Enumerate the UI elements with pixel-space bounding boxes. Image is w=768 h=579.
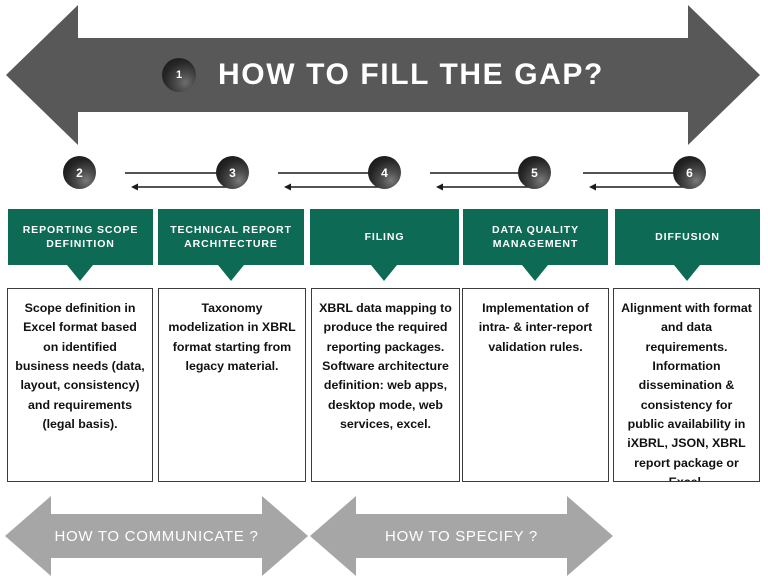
step-circle-6-label: 6 bbox=[686, 166, 693, 180]
header-card-data-quality-management[interactable]: DATA QUALITY MANAGEMENT bbox=[463, 209, 608, 265]
body-text-3: XBRL data mapping to produce the require… bbox=[319, 301, 452, 431]
header-card-label-2: TECHNICAL REPORT ARCHITECTURE bbox=[166, 223, 296, 252]
body-text-5: Alignment with format and data requireme… bbox=[621, 301, 752, 482]
header-card-label-1: REPORTING SCOPE DEFINITION bbox=[16, 223, 145, 252]
header-card-reporting-scope-definition[interactable]: REPORTING SCOPE DEFINITION bbox=[8, 209, 153, 265]
arrow-left-icon-4-3 bbox=[283, 182, 383, 200]
step-circle-6[interactable]: 6 bbox=[673, 156, 706, 189]
triangle-down-icon-5 bbox=[674, 265, 700, 281]
header-card-label-4: DATA QUALITY MANAGEMENT bbox=[471, 223, 600, 252]
body-box-reporting-scope-definition: Scope definition in Excel format based o… bbox=[7, 288, 153, 482]
header-card-technical-report-architecture[interactable]: TECHNICAL REPORT ARCHITECTURE bbox=[158, 209, 304, 265]
body-box-technical-report-architecture: Taxonomy modelization in XBRL format sta… bbox=[158, 288, 306, 482]
bottom-arrow-how-to-communicate[interactable]: HOW TO COMMUNICATE ? bbox=[5, 495, 308, 577]
banner-arrow: 1 HOW TO FILL THE GAP? bbox=[6, 4, 760, 146]
header-card-filing[interactable]: FILING bbox=[310, 209, 459, 265]
step-circle-4[interactable]: 4 bbox=[368, 156, 401, 189]
step-circle-2[interactable]: 2 bbox=[63, 156, 96, 189]
body-text-2: Taxonomy modelization in XBRL format sta… bbox=[168, 301, 295, 373]
body-text-1: Scope definition in Excel format based o… bbox=[15, 301, 144, 431]
step-circle-5-label: 5 bbox=[531, 166, 538, 180]
step-circle-4-label: 4 bbox=[381, 166, 388, 180]
double-headed-arrow-icon-communicate bbox=[5, 495, 308, 577]
body-text-4: Implementation of intra- & inter-report … bbox=[479, 301, 593, 354]
body-box-filing: XBRL data mapping to produce the require… bbox=[311, 288, 460, 482]
triangle-down-icon-2 bbox=[218, 265, 244, 281]
body-box-diffusion: Alignment with format and data requireme… bbox=[613, 288, 760, 482]
header-card-diffusion[interactable]: DIFFUSION bbox=[615, 209, 760, 265]
body-box-data-quality-management: Implementation of intra- & inter-report … bbox=[462, 288, 609, 482]
header-card-label-5: DIFFUSION bbox=[655, 230, 720, 244]
arrow-left-icon-6-5 bbox=[588, 182, 688, 200]
header-card-label-3: FILING bbox=[365, 230, 405, 244]
triangle-down-icon-3 bbox=[371, 265, 397, 281]
step-circle-5[interactable]: 5 bbox=[518, 156, 551, 189]
double-headed-arrow-icon-specify bbox=[310, 495, 613, 577]
step-circle-2-label: 2 bbox=[76, 166, 83, 180]
arrow-left-icon-3-2 bbox=[130, 182, 230, 200]
step-circle-3[interactable]: 3 bbox=[216, 156, 249, 189]
step-circle-3-label: 3 bbox=[229, 166, 236, 180]
steps-row: 2 3 4 5 6 bbox=[0, 148, 768, 200]
arrow-left-icon-5-4 bbox=[435, 182, 535, 200]
triangle-down-icon-4 bbox=[522, 265, 548, 281]
double-headed-arrow-icon bbox=[6, 4, 760, 146]
diagram-canvas: 1 HOW TO FILL THE GAP? bbox=[0, 0, 768, 579]
triangle-down-icon-1 bbox=[67, 265, 93, 281]
bottom-arrow-how-to-specify[interactable]: HOW TO SPECIFY ? bbox=[310, 495, 613, 577]
